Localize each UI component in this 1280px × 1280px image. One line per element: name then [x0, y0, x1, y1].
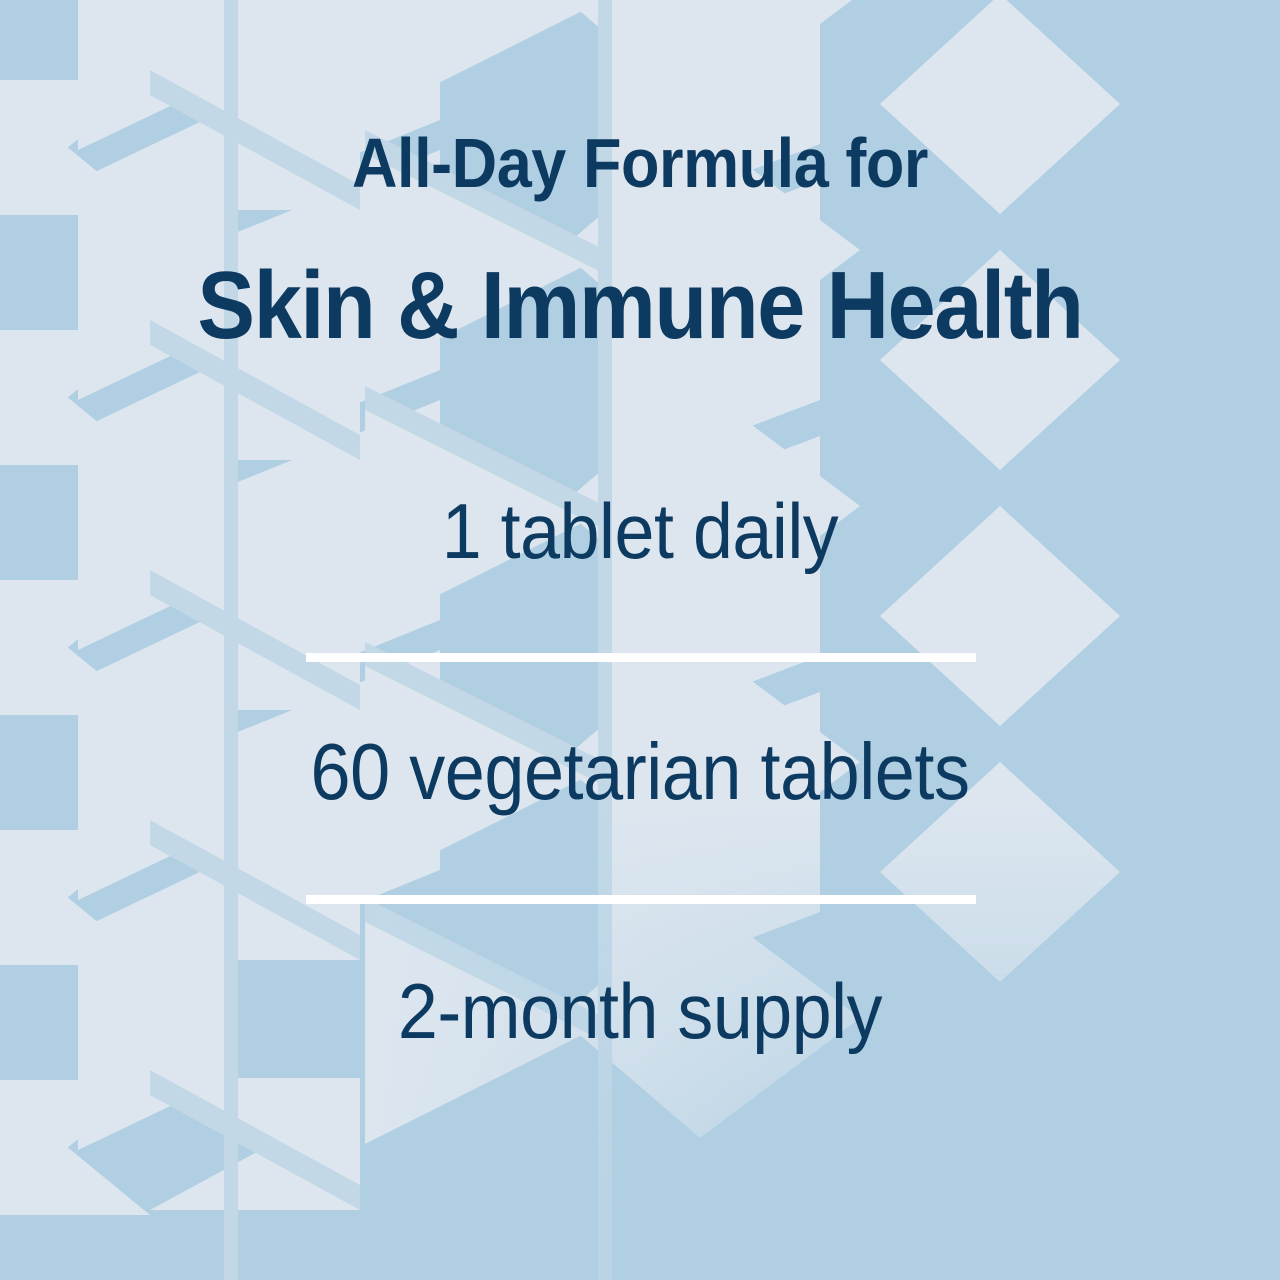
- product-feature-card: All-Day Formula for Skin & Immune Health…: [0, 0, 1280, 1280]
- fact-tablet-count: 60 vegetarian tablets: [64, 732, 1216, 812]
- headline-line-1: All-Day Formula for: [64, 128, 1216, 198]
- headline-line-2: Skin & Immune Health: [64, 258, 1216, 354]
- fact-supply-duration: 2-month supply: [51, 972, 1229, 1050]
- divider-after-dosage: [306, 653, 976, 662]
- card-content: All-Day Formula for Skin & Immune Health…: [0, 0, 1280, 1280]
- fact-dosage: 1 tablet daily: [51, 492, 1229, 570]
- divider-after-count: [306, 895, 976, 904]
